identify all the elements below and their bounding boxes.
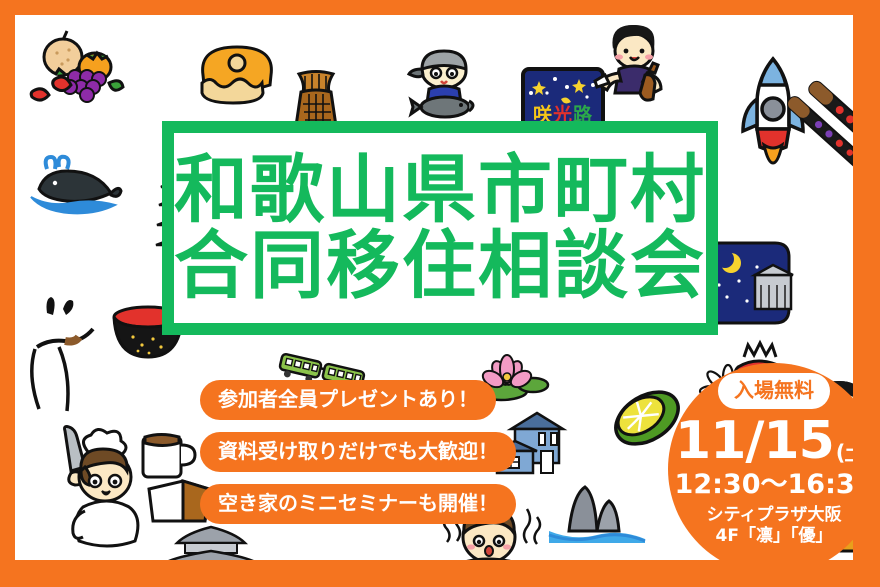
bullet-item-3: 空き家のミニセミナーも開催！ xyxy=(200,484,516,524)
event-date: 11/15 (土) xyxy=(675,415,853,467)
fishing-pole-illustration xyxy=(29,295,115,415)
coffee-cup-illustration xyxy=(139,431,199,483)
whale-illustration xyxy=(29,155,121,221)
poster-root: 咲 光 路 xyxy=(0,0,880,587)
title-line-1: 和歌山県市町村 xyxy=(174,153,706,227)
fisherman-illustration xyxy=(405,49,483,121)
venue-name: シティプラザ大阪 xyxy=(707,505,842,526)
event-time: 12:30〜16:30 xyxy=(675,471,853,498)
pancake-illustration xyxy=(197,41,277,103)
japanese-house-illustration xyxy=(155,525,267,560)
bullet-list: 参加者全員プレゼントあり！ 資料受け取りだけでも大歓迎！ 空き家のミニセミナーも… xyxy=(200,380,516,524)
event-date-number: 11/15 xyxy=(675,415,834,467)
person-with-bottle-illustration xyxy=(595,23,675,103)
poster-canvas: 咲 光 路 xyxy=(15,15,853,560)
bullet-item-2: 資料受け取りだけでも大歓迎！ xyxy=(200,432,516,472)
venue-room: 4F「凛」「優」 xyxy=(716,526,833,547)
date-circle: 入場無料 11/15 (土) 12:30〜16:30 シティプラザ大阪 4F「凛… xyxy=(668,363,853,560)
title-line-2: 合同移住相談会 xyxy=(174,229,706,303)
lacquer-chopsticks-illustration xyxy=(775,83,853,193)
fruits-illustration xyxy=(25,29,125,109)
title-frame: 和歌山県市町村 合同移住相談会 xyxy=(162,121,718,335)
bullet-item-1: 参加者全員プレゼントあり！ xyxy=(200,380,496,420)
event-day-of-week: (土) xyxy=(836,443,853,464)
rock-sea-illustration xyxy=(549,479,645,543)
baker-illustration xyxy=(35,427,155,552)
free-admission-badge: 入場無料 xyxy=(718,373,830,409)
